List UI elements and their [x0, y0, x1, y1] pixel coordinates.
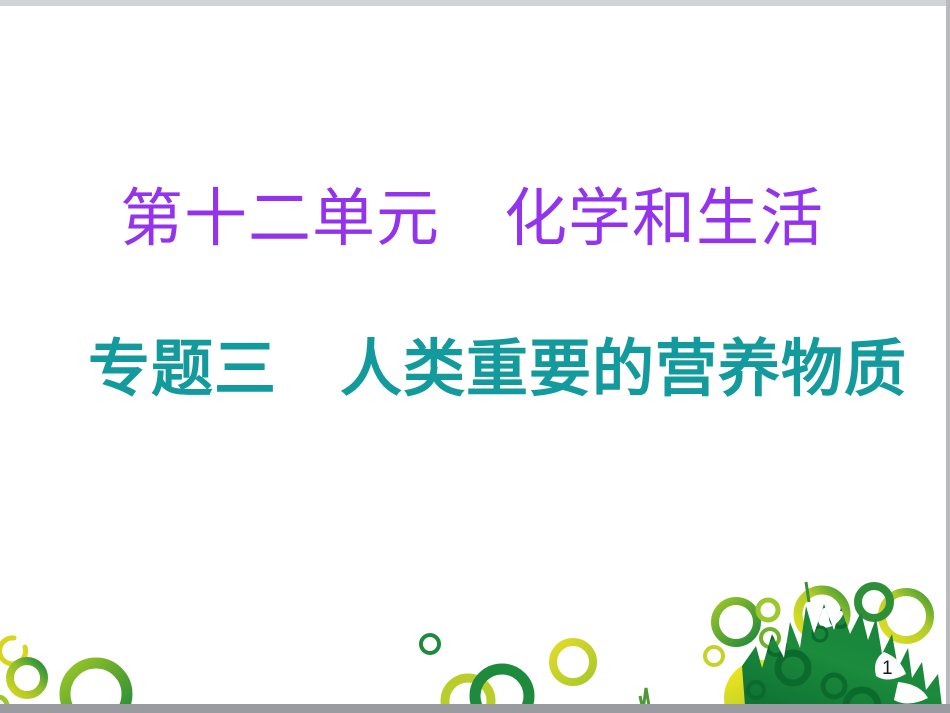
blob-circle [724, 660, 800, 704]
ring-icon [10, 661, 44, 695]
decoration-ring-group-bottom-center [421, 635, 650, 704]
ring-icon [715, 601, 757, 643]
ring-icon [421, 635, 439, 653]
ring-icon [858, 586, 890, 618]
decoration-ring-group-near-leaf [705, 600, 779, 665]
window-bottom-edge [0, 704, 950, 713]
ring-icon [475, 669, 529, 704]
slide-canvas: 第十二单元 化学和生活 专题三 人类重要的营养物质 1 [0, 6, 946, 704]
ring-icon [882, 592, 930, 640]
ring-icon [65, 663, 127, 704]
maple-leaf-icon [742, 604, 942, 704]
ring-icon [553, 642, 593, 682]
ring-icon [705, 647, 723, 665]
stem-icon [806, 582, 809, 602]
ring-icon [758, 600, 778, 620]
slide-title-secondary: 专题三 人类重要的营养物质 [88, 339, 907, 401]
ring-arc-icon [0, 638, 26, 664]
slide-title-primary: 第十二单元 化学和生活 [120, 188, 824, 251]
ring-icon [445, 678, 491, 704]
decoration-ring-group-leaf-crown [798, 582, 930, 640]
ring-icon [798, 590, 846, 638]
slide-viewport: 第十二单元 化学和生活 专题三 人类重要的营养物质 1 [0, 0, 950, 713]
slide-number: 1 [882, 658, 893, 680]
decoration-ring-group-bottom-left [0, 638, 127, 704]
ring-icon [0, 697, 7, 704]
window-right-edge [946, 0, 950, 713]
grass-sprig-icon [640, 688, 650, 704]
ring-icon [761, 629, 779, 647]
